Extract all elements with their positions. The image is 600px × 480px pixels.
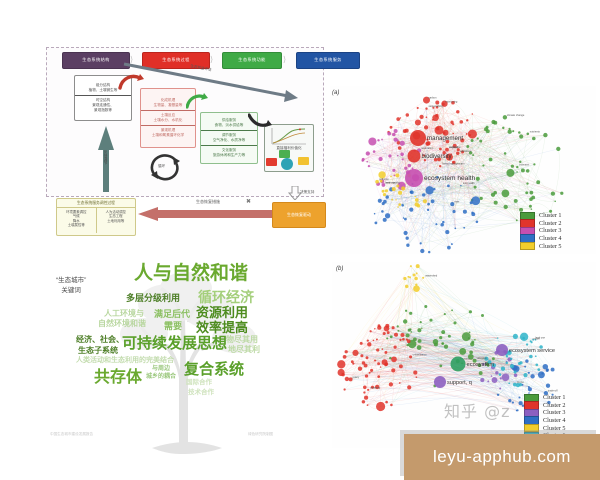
- cloud-word: 需要: [164, 322, 182, 331]
- svg-text:forest management: forest management: [442, 162, 465, 166]
- regulation-col-environment: 环境要素调控 气候 降水 土壤属性等: [57, 208, 96, 233]
- svg-text:climate change: climate change: [507, 113, 525, 117]
- decision-support-label: 决策支持: [300, 190, 314, 195]
- cloud-word: 人工环境与: [104, 310, 144, 318]
- svg-text:river: river: [454, 200, 459, 204]
- svg-text:wetland: wetland: [449, 145, 458, 149]
- tree-silhouette-icon: [48, 258, 326, 454]
- svg-text:mapping: mapping: [370, 385, 381, 389]
- svg-text:valuation: valuation: [477, 356, 488, 360]
- svg-text:model: model: [533, 337, 540, 341]
- legend-label: Cluster 5: [539, 243, 562, 250]
- arrow-function-to-benefit-icon: [248, 112, 272, 130]
- cloud-word: 满足后代: [154, 310, 190, 319]
- cloud-word: 地尽其利: [228, 346, 260, 354]
- legend-label: Cluster 4: [539, 235, 562, 242]
- cloud-word: 生态子系统: [78, 347, 118, 355]
- flow-step-service: 生态系统服务: [296, 52, 360, 69]
- value-curve-chart-icon: [268, 126, 308, 146]
- svg-text:monitoring: monitoring: [445, 100, 458, 104]
- cloud-word: 技术合作: [188, 390, 214, 397]
- regulation-box: 生态系统服务调控过程 环境要素调控 气候 降水 土壤属性等 人为活动调控 生态工…: [56, 198, 136, 236]
- zhihu-watermark: 知乎 @z: [444, 398, 511, 422]
- svg-text:trade-off: trade-off: [548, 389, 558, 393]
- swatch-red-icon: [266, 158, 277, 166]
- cloud-word: 与周边: [152, 366, 170, 372]
- swatch-yellow-icon: [298, 157, 309, 165]
- site-watermark-banner: leyu-apphub.com: [404, 434, 600, 480]
- cloud-word: 城乡的耦合: [146, 374, 176, 380]
- word-cloud-caption-right: 绿色研究院制图: [248, 432, 273, 437]
- word-cloud-panel: “生态城市” 关键词 人与自然和谐多层分级利用循环经济人工环境与自然环境和谐满足…: [48, 258, 326, 454]
- legend-color-chip-icon: [520, 242, 535, 250]
- feedback-measure-label: 生态恢复措施: [196, 199, 220, 205]
- cloud-word: 资源利用: [196, 306, 248, 319]
- svg-text:ecosystem: ecosystem: [467, 362, 495, 368]
- svg-text:nutrients: nutrients: [530, 129, 541, 133]
- site-watermark-text: leyu-apphub.com: [433, 447, 571, 467]
- legend-label: Cluster 1: [539, 212, 562, 219]
- svg-text:sustainability: sustainability: [429, 104, 445, 108]
- legend-label: Cluster 1: [543, 394, 566, 401]
- cycle-label: 循环: [158, 164, 165, 169]
- cross-mark-icon: ✖: [246, 198, 251, 205]
- svg-text:biomass: biomass: [519, 163, 529, 167]
- legend-network-a: Cluster 1Cluster 2Cluster 3Cluster 4Clus…: [520, 212, 562, 250]
- function-cell-2: 调节服务 空气净化、水质净等: [201, 130, 257, 145]
- swatch-cyan-icon: [281, 158, 293, 170]
- svg-text:China: China: [517, 380, 524, 384]
- svg-text:ecosystem service: ecosystem service: [509, 348, 555, 354]
- cloud-word: 共存体: [94, 370, 142, 386]
- process-cell-3: 景观机理 土壤和氧素循环化学: [141, 125, 195, 140]
- swatch-green-icon: [279, 150, 290, 158]
- panel-tag-a: (a): [332, 90, 339, 96]
- cloud-word: 效率提高: [196, 321, 248, 334]
- svg-text:support, q: support, q: [447, 380, 472, 386]
- legend-label: Cluster 2: [543, 402, 566, 409]
- cloud-word: 物尽其用: [226, 336, 258, 344]
- cloud-word: 复合系统: [184, 362, 244, 377]
- cloud-word: 国际合作: [186, 380, 212, 387]
- cloud-word: 多层分级利用: [126, 294, 180, 303]
- function-cell-3: 文化服务 旅游休闲和生产力等: [201, 145, 257, 160]
- cloud-word: 人与自然和谐: [134, 264, 248, 283]
- svg-text:policy: policy: [353, 375, 360, 379]
- svg-text:restoration: restoration: [421, 146, 434, 150]
- word-cloud-side-label: “生态城市” 关键词: [56, 276, 86, 296]
- legend-label: Cluster 4: [543, 417, 566, 424]
- value-legend-swatches: [266, 150, 312, 168]
- feedback-arrow-label: 反馈调节: [104, 150, 109, 164]
- svg-text:watershed: watershed: [425, 273, 438, 277]
- legend-label: Cluster 3: [543, 409, 566, 416]
- cloud-word: 经济、社会、: [76, 336, 124, 344]
- svg-text:indicators: indicators: [460, 149, 472, 153]
- screenshot-canvas: 生态系统结构 ⟩ 生态系统过程 ⟩ 生态系统功能 ⟩ 生态系统服务 组分结构 植…: [0, 0, 600, 480]
- cloud-word: 循环经济: [198, 290, 254, 304]
- svg-text:ecosystem health: ecosystem health: [424, 175, 476, 182]
- legend-label: Cluster 2: [539, 220, 562, 227]
- panel-tag-b: (b): [336, 266, 343, 272]
- svg-text:pollution: pollution: [379, 177, 389, 181]
- cloud-word: 自然环境和谐: [98, 320, 146, 328]
- restoration-driver-box: 生态恢复驱动: [272, 202, 326, 228]
- regulation-title: 生态系统服务调控过程: [57, 199, 135, 207]
- svg-text:biodiversity: biodiversity: [422, 154, 452, 160]
- svg-text:urbanization: urbanization: [413, 352, 428, 356]
- process-cell-2: 土壤反应 土壤水分、水机化: [141, 110, 195, 125]
- regulation-col-human: 人为活动调控 生态工程 土地利用等: [96, 208, 136, 233]
- cloud-word: 可持续发展思想: [122, 336, 227, 351]
- svg-text:carbon: carbon: [429, 96, 437, 100]
- svg-text:management: management: [427, 135, 463, 142]
- legend-label: Cluster 3: [539, 227, 562, 234]
- flow-step-structure: 生态系统结构: [62, 52, 130, 69]
- cloud-word: 人类活动和生态利用的完美结合: [76, 357, 174, 364]
- word-cloud-caption-left: 中国生态城市建设发展报告: [50, 432, 93, 437]
- legend-row: Cluster 5: [520, 242, 562, 250]
